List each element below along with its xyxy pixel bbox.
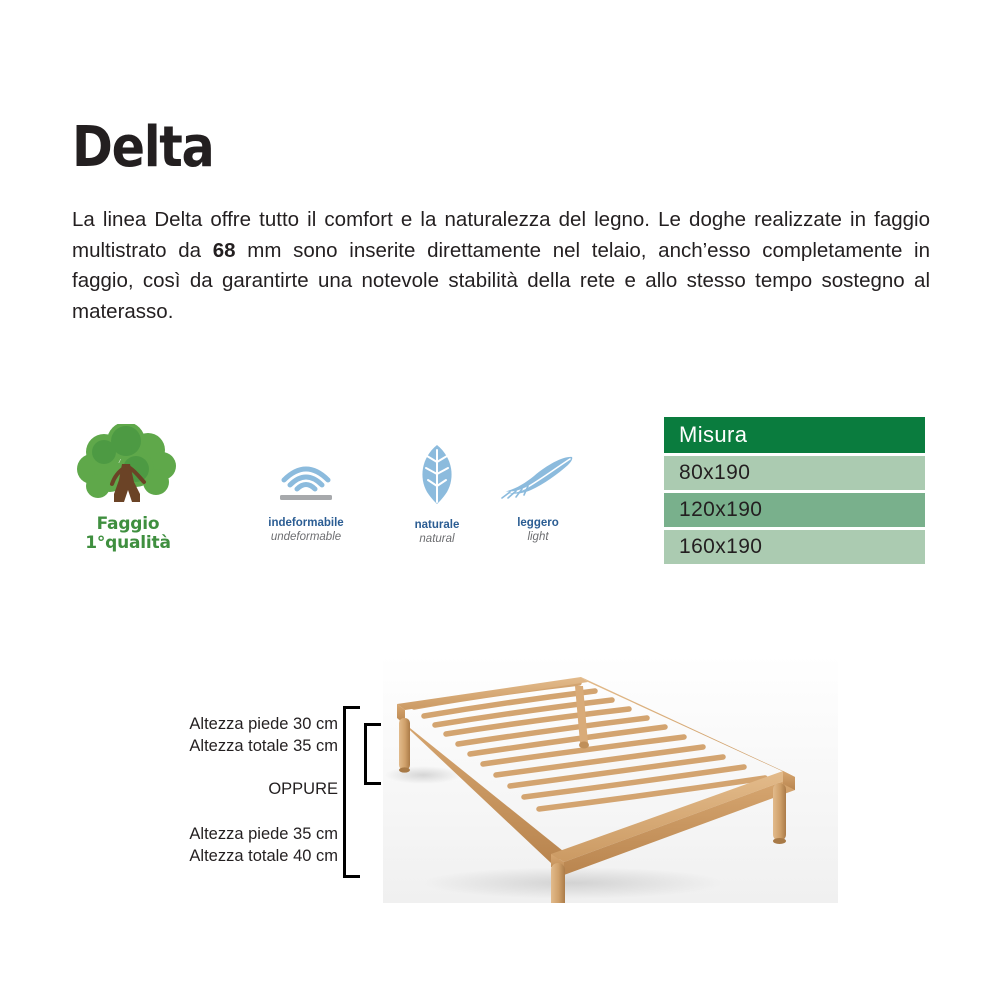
badge-natural-label-it: naturale: [392, 518, 482, 532]
table-row: 80x190: [664, 456, 925, 490]
height-annotations: Altezza piede 30 cm Altezza totale 35 cm…: [140, 700, 390, 880]
height-option-b-line1: Altezza piede 35 cm: [189, 823, 338, 845]
badge-undeformable-label-it: indeformabile: [250, 516, 362, 530]
height-options-separator: OPPURE: [268, 778, 338, 800]
badge-undeformable: indeformabile undeformable: [250, 454, 362, 544]
beech-wordmark-line1: Faggio: [72, 515, 184, 534]
description-highlight: 68: [213, 239, 236, 262]
table-row: 120x190: [664, 493, 925, 527]
size-table: Misura 80x190 120x190 160x190: [664, 417, 925, 567]
badge-natural: naturale natural: [392, 444, 482, 546]
badge-undeformable-label-en: undeformable: [250, 530, 362, 544]
bed-figure: [383, 655, 838, 903]
badge-light-label-it: leggero: [488, 516, 588, 530]
height-bracket-inner: [364, 723, 381, 785]
product-description: La linea Delta offre tutto il comfort e …: [72, 205, 930, 327]
badge-light-label-en: light: [488, 530, 588, 544]
feather-icon: [488, 454, 588, 509]
height-bracket-outer: [343, 706, 360, 878]
height-option-b-line2: Altezza totale 40 cm: [189, 845, 338, 867]
height-option-a: Altezza piede 30 cm Altezza totale 35 cm: [189, 713, 338, 757]
arcs-icon: [250, 454, 362, 509]
height-option-b: Altezza piede 35 cm Altezza totale 40 cm: [189, 823, 338, 867]
page-title: Delta: [72, 117, 213, 179]
badge-light-text: leggero light: [488, 516, 588, 544]
size-table-header: Misura: [664, 417, 925, 453]
badge-natural-label-en: natural: [392, 532, 482, 546]
feature-badges: Faggio 1°qualità indeformabile undeforma…: [72, 424, 592, 569]
badge-natural-text: naturale natural: [392, 518, 482, 546]
table-row: 160x190: [664, 530, 925, 564]
height-option-a-line1: Altezza piede 30 cm: [189, 713, 338, 735]
badge-light: leggero light: [488, 454, 588, 544]
beech-wordmark: Faggio 1°qualità: [72, 515, 184, 553]
bed-frame-photo: [383, 655, 838, 903]
leaf-icon: [392, 444, 482, 511]
height-option-a-line2: Altezza totale 35 cm: [189, 735, 338, 757]
badge-undeformable-text: indeformabile undeformable: [250, 516, 362, 544]
tree-icon: [72, 424, 184, 514]
badge-beech-quality: Faggio 1°qualità: [72, 424, 184, 553]
beech-wordmark-line2: 1°qualità: [72, 534, 184, 553]
